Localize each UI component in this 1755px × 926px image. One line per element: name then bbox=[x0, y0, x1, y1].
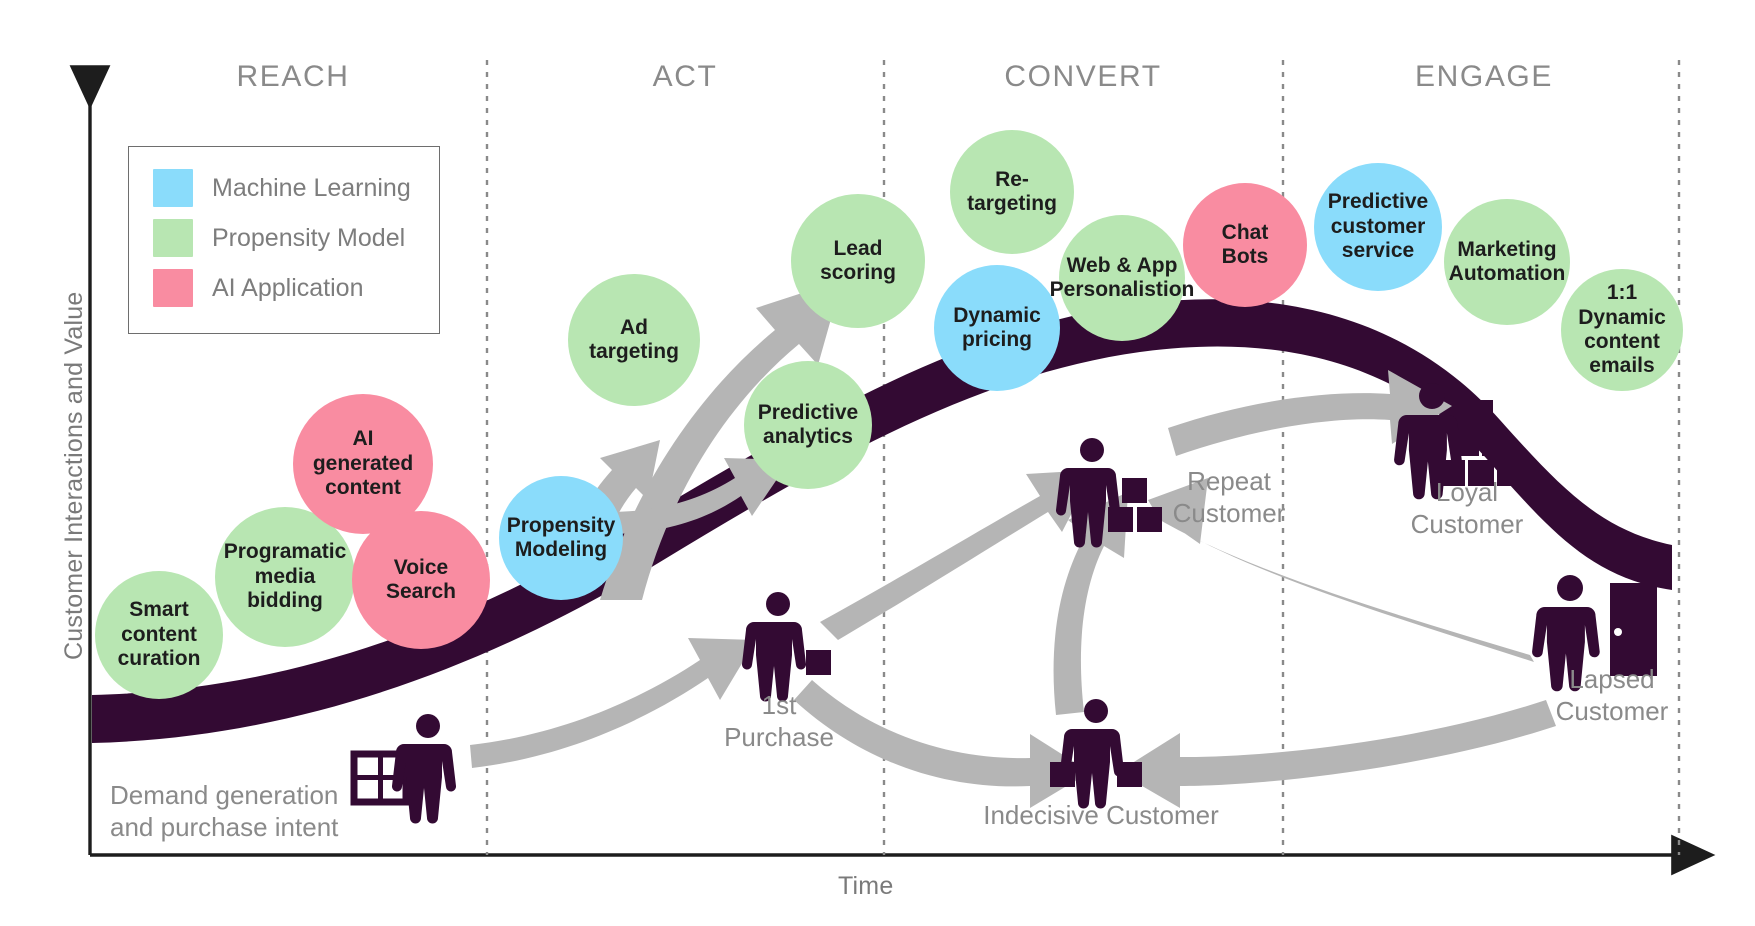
bubble-dynamic-pricing[interactable]: Dynamicpricing bbox=[934, 265, 1060, 391]
journey-label-indecisive-customer: Indecisive Customer bbox=[983, 800, 1219, 832]
legend-label-ai-application: AI Application bbox=[212, 274, 364, 303]
legend: Machine Learning Propensity Model AI App… bbox=[128, 146, 440, 334]
bubble-predictive-customer-service[interactable]: Predictivecustomerservice bbox=[1314, 163, 1442, 291]
bubble-label: Predictiveanalytics bbox=[758, 401, 858, 450]
box-icon-indecisive-right bbox=[1117, 762, 1142, 787]
bubble-label: 1:1Dynamiccontentemails bbox=[1578, 281, 1666, 378]
bubble-marketing-automation[interactable]: MarketingAutomation bbox=[1444, 199, 1570, 325]
bubble-label: MarketingAutomation bbox=[1449, 238, 1566, 287]
bubble-predictive-analytics[interactable]: Predictiveanalytics bbox=[744, 361, 872, 489]
bubble-label: Adtargeting bbox=[589, 316, 679, 365]
bubble-web-app-personalistion[interactable]: Web & AppPersonalistion bbox=[1059, 215, 1185, 341]
journey-label-repeat-customer: RepeatCustomer bbox=[1173, 466, 1286, 529]
legend-swatch-propensity-model bbox=[153, 219, 193, 257]
door-icon bbox=[1610, 583, 1657, 676]
bubble-label: Dynamicpricing bbox=[953, 304, 1041, 353]
arrow-first-purchase-to-indecisive bbox=[794, 680, 1090, 808]
bubble-lead-scoring[interactable]: Leadscoring bbox=[791, 194, 925, 328]
person-icon-demand bbox=[392, 714, 456, 824]
bubble-label: Smartcontentcuration bbox=[118, 598, 201, 671]
bubble-label: Leadscoring bbox=[820, 237, 896, 286]
y-axis-label: Customer Interactions and Value bbox=[60, 292, 89, 660]
bubble-label: AIgeneratedcontent bbox=[313, 427, 413, 500]
diagram-canvas: REACH ACT CONVERT ENGAGE Customer Intera… bbox=[0, 0, 1755, 926]
arrow-first-purchase-to-repeat bbox=[820, 470, 1094, 640]
phase-label-act: ACT bbox=[653, 60, 718, 94]
bubble-propensity-modeling[interactable]: PropensityModeling bbox=[499, 476, 623, 600]
journey-label-demand-generation: Demand generationand purchase intent bbox=[110, 780, 338, 843]
bubble-label: Programaticmediabidding bbox=[224, 540, 347, 613]
journey-label-first-purchase: 1stPurchase bbox=[724, 690, 834, 753]
bubble-label: ChatBots bbox=[1222, 221, 1269, 270]
legend-swatch-machine-learning bbox=[153, 169, 193, 207]
bubble-label: Web & AppPersonalistion bbox=[1050, 254, 1195, 303]
bubble-label: Predictivecustomerservice bbox=[1328, 190, 1428, 263]
bubble-1-1-dynamic-content-emails[interactable]: 1:1Dynamiccontentemails bbox=[1561, 269, 1683, 391]
legend-item-propensity-model: Propensity Model bbox=[153, 219, 405, 257]
journey-label-loyal-customer: LoyalCustomer bbox=[1411, 477, 1524, 540]
bubble-label: Re-targeting bbox=[952, 168, 1072, 217]
x-axis-label: Time bbox=[838, 872, 893, 901]
arrow-demand-to-first-purchase bbox=[470, 638, 756, 768]
person-icon-indecisive bbox=[1060, 699, 1124, 809]
bubble-ad-targeting[interactable]: Adtargeting bbox=[568, 274, 700, 406]
bubble-re-targeting[interactable]: Re-targeting bbox=[950, 130, 1074, 254]
bubble-voice-search[interactable]: VoiceSearch bbox=[352, 511, 490, 649]
journey-label-lapsed-customer: LapsedCustomer bbox=[1556, 664, 1669, 727]
box-icon-indecisive-left bbox=[1050, 762, 1075, 787]
bubble-chat-bots[interactable]: ChatBots bbox=[1183, 183, 1307, 307]
arrow-lapsed-to-indecisive bbox=[1118, 700, 1556, 808]
legend-item-ai-application: AI Application bbox=[153, 269, 364, 307]
legend-label-propensity-model: Propensity Model bbox=[212, 224, 405, 253]
phase-label-engage: ENGAGE bbox=[1415, 60, 1553, 94]
bubble-label: VoiceSearch bbox=[386, 556, 456, 605]
phase-label-convert: CONVERT bbox=[1004, 60, 1161, 94]
legend-swatch-ai-application bbox=[153, 269, 193, 307]
bubble-label: PropensityModeling bbox=[507, 514, 616, 563]
person-icon-first-purchase bbox=[742, 592, 806, 702]
bubble-smart-content-curation[interactable]: Smartcontentcuration bbox=[95, 571, 223, 699]
box-icon-first-purchase bbox=[806, 650, 831, 675]
phase-label-reach: REACH bbox=[236, 60, 349, 94]
legend-item-machine-learning: Machine Learning bbox=[153, 169, 411, 207]
legend-label-machine-learning: Machine Learning bbox=[212, 174, 411, 203]
